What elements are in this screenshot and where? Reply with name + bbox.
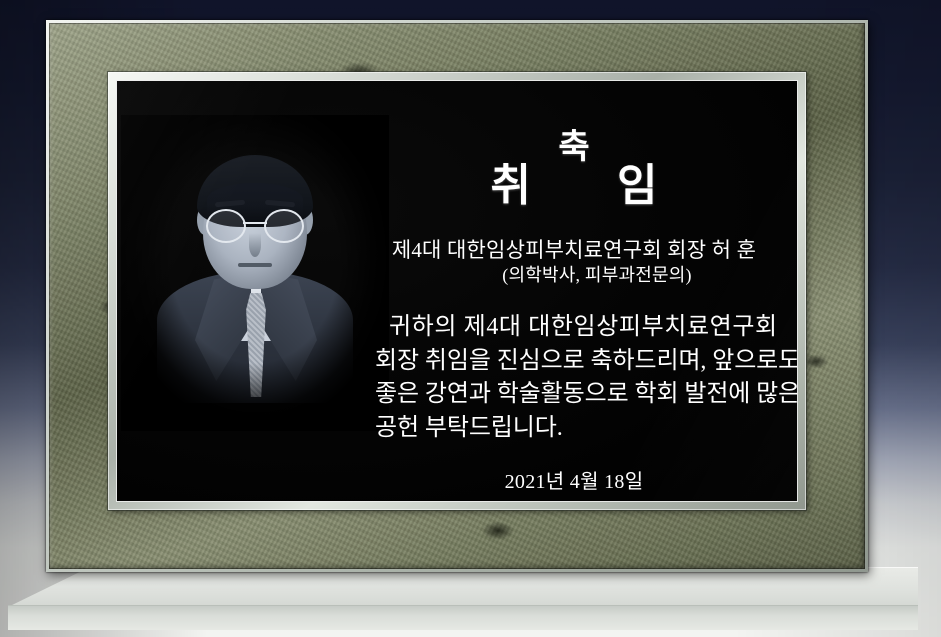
message-line-3: 좋은 강연과 학술활동으로 학회 발전에 많은 (375, 378, 775, 412)
black-engraved-panel: 축 취임 제4대 대한임상피부치료연구회 회장 허 훈 (의학박사, 피부과전문… (117, 81, 797, 501)
eyeglass-lens-right (264, 209, 304, 243)
message-line-2: 회장 취임을 진심으로 축하드리며, 앞으로도 (375, 345, 775, 379)
portrait-image (149, 143, 361, 403)
base-front-edge (8, 605, 918, 630)
plaque-photo-scene: 축 취임 제4대 대한임상피부치료연구회 회장 허 훈 (의학박사, 피부과전문… (0, 0, 941, 637)
eyeglass-bridge (243, 222, 267, 224)
recipient-block: 제4대 대한임상피부치료연구회 회장 허 훈 (의학박사, 피부과전문의) (369, 237, 779, 288)
plaque-stand-base (8, 567, 918, 629)
base-top-surface (8, 567, 918, 607)
honoree-portrait (149, 143, 361, 403)
congratulatory-message: 귀하의 제4대 대한임상피부치료연구회 회장 취임을 진심으로 축하드리며, 앞… (375, 311, 775, 445)
plaque-title: 취임 (369, 149, 779, 213)
award-plaque: 축 취임 제4대 대한임상피부치료연구회 회장 허 훈 (의학박사, 피부과전문… (46, 20, 868, 572)
recipient-name-line: 제4대 대한임상피부치료연구회 회장 허 훈 (392, 238, 756, 262)
inscription-text-column: 축 취임 제4대 대한임상피부치료연구회 회장 허 훈 (의학박사, 피부과전문… (369, 105, 779, 487)
message-line-1: 귀하의 제4대 대한임상피부치료연구회 (375, 311, 775, 345)
message-line-4: 공헌 부탁드립니다. (375, 412, 775, 446)
portrait-nose (249, 233, 261, 257)
silver-bevel-ring: 축 취임 제4대 대한임상피부치료연구회 회장 허 훈 (의학박사, 피부과전문… (108, 72, 806, 510)
portrait-mouth (238, 263, 272, 267)
eyeglass-lens-left (206, 209, 246, 243)
recipient-credentials: (의학박사, 피부과전문의) (415, 264, 779, 287)
inscription-date: 2021년 4월 18일 (369, 465, 779, 494)
